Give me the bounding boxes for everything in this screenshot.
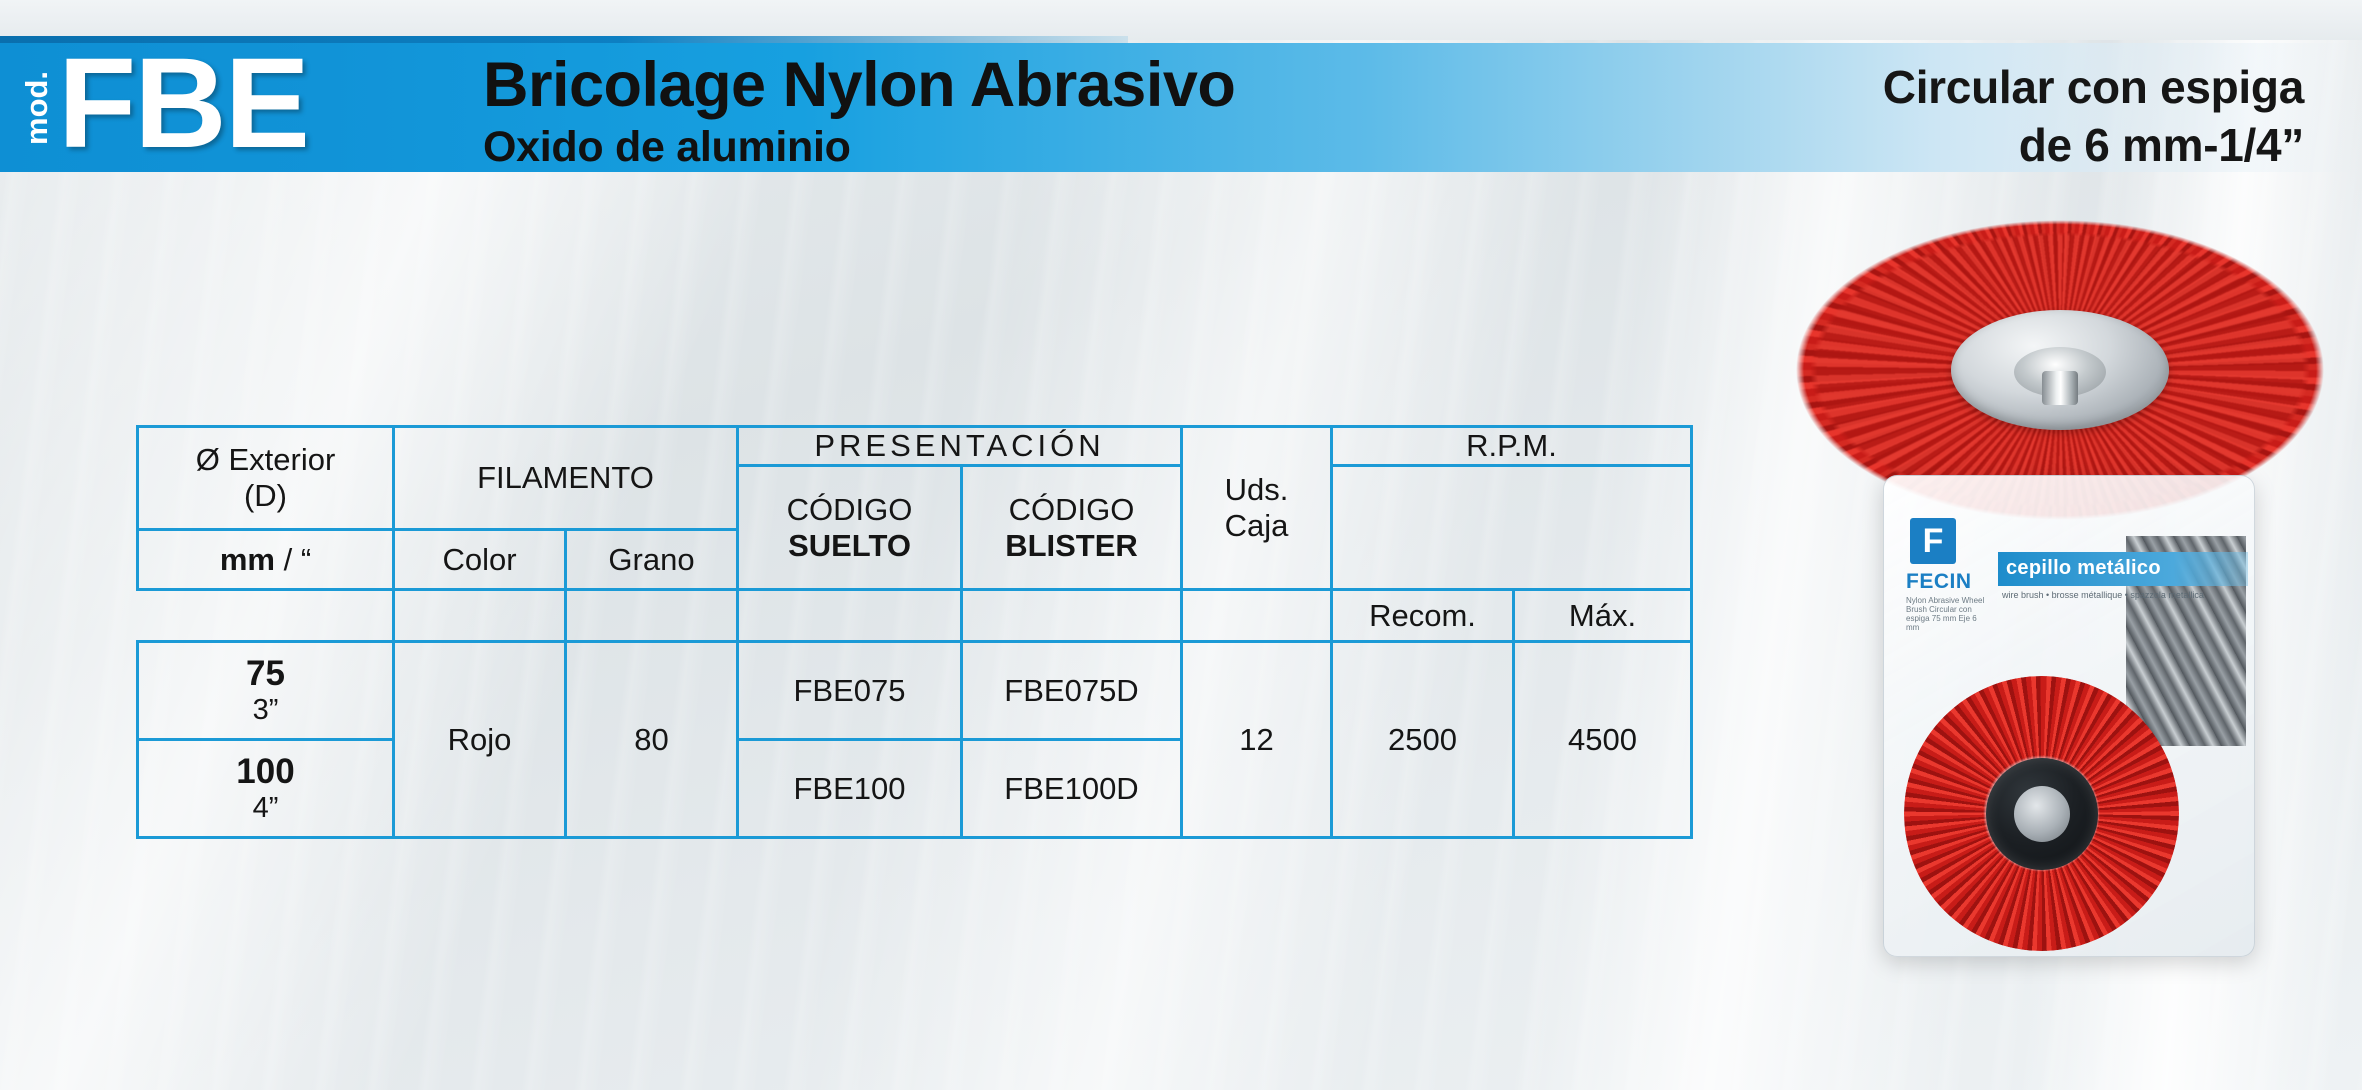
blister-sub-text: wire brush • brosse métallique • spazzol… [2002,590,2242,600]
product-type-line2: de 6 mm-1/4” [1883,116,2304,174]
cell-code-loose-0: FBE075 [738,642,962,740]
header-diameter-units-mm: mm [220,542,275,577]
blister-brand-name: FECIN [1906,570,1972,594]
cell-code-blister-1: FBE100D [962,740,1182,838]
header-code-loose-top: CÓDIGO [739,492,960,528]
spacer-units-box [1182,590,1332,642]
table-row: 75 3” Rojo 80 FBE075 FBE075D 12 2500 450… [138,642,1692,740]
cell-rpm-recommended: 2500 [1332,642,1514,838]
spacer-color [394,590,566,642]
header-color: Color [394,530,566,590]
brush-shank-collar [2042,371,2078,405]
product-type-note: Circular con espiga de 6 mm-1/4” [1883,58,2304,174]
model-code: FBE [58,40,308,168]
product-photo: circular-nylon-abrasive-brush-with-shank… [1755,185,2362,1090]
header-rpm-recommended: Recom. [1332,590,1514,642]
cell-diameter-1: 100 4” [138,740,394,838]
header-code-blister: CÓDIGO BLISTER [962,466,1182,590]
cell-code-loose-1: FBE100 [738,740,962,838]
blister-package-image: F FECIN Nylon Abrasive Wheel Brush Circu… [1883,475,2255,957]
header-filament: FILAMENTO [394,427,738,530]
blister-banner-text: cepillo metálico [2006,557,2161,580]
header-code-loose-bottom: SUELTO [739,528,960,564]
table-header-row-1: Ø Exterior (D) FILAMENTO PRESENTACIÓN Ud… [138,427,1692,466]
blister-mini-hub [1986,758,2098,870]
title-block: Bricolage Nylon Abrasivo Oxido de alumin… [483,52,1235,172]
header-code-blister-top: CÓDIGO [963,492,1180,528]
cell-diameter-inch-0: 3” [139,694,392,727]
fecin-logo-icon: F [1910,518,1956,564]
cell-units-box: 12 [1182,642,1332,838]
page-subtitle: Oxido de aluminio [483,122,1235,172]
cell-code-blister-0: FBE075D [962,642,1182,740]
cell-diameter-0: 75 3” [138,642,394,740]
header-diameter-sub: (D) [139,478,392,514]
page-title: Bricolage Nylon Abrasivo [483,52,1235,118]
blister-side-specs: Nylon Abrasive Wheel Brush Circular con … [1906,596,1986,632]
header-units-box-line2: Caja [1183,508,1330,544]
header-diameter-units-inch: / “ [275,542,311,577]
brush-alt-text: circular-nylon-abrasive-brush-with-shank [1795,205,1796,206]
cell-color: Rojo [394,642,566,838]
rpm-spacer [1332,466,1692,590]
cell-rpm-max: 4500 [1514,642,1692,838]
header-diameter-label: Ø Exterior [139,442,392,478]
specification-table: Ø Exterior (D) FILAMENTO PRESENTACIÓN Ud… [136,425,1693,839]
header-presentation: PRESENTACIÓN [738,427,1182,466]
header-rpm: R.P.M. [1332,427,1692,466]
header-rpm-max: Máx. [1514,590,1692,642]
spacer-grain [566,590,738,642]
header-code-loose: CÓDIGO SUELTO [738,466,962,590]
brush-hub [1951,310,2169,430]
blister-mini-wheel [1904,676,2179,951]
background-top-strip [0,0,2362,40]
spacer-code-loose [738,590,962,642]
cell-diameter-inch-1: 4” [139,792,392,825]
cell-diameter-mm-1: 100 [139,752,392,792]
table-subheader-row-rpm: Recom. Máx. [138,590,1692,642]
model-prefix-label: mod. [14,58,60,158]
blister-banner: cepillo metálico [1998,552,2248,586]
header-code-blister-bottom: BLISTER [963,528,1180,564]
header-diameter: Ø Exterior (D) [138,427,394,530]
header-diameter-units: mm / “ [138,530,394,590]
spacer-diameter [138,590,394,642]
cell-grain: 80 [566,642,738,838]
header-units-box: Uds. Caja [1182,427,1332,590]
header-grain: Grano [566,530,738,590]
product-type-line1: Circular con espiga [1883,58,2304,116]
blister-mini-hub-bore [2014,786,2070,842]
cell-diameter-mm-0: 75 [139,654,392,694]
spacer-code-blister [962,590,1182,642]
header-units-box-line1: Uds. [1183,472,1330,508]
